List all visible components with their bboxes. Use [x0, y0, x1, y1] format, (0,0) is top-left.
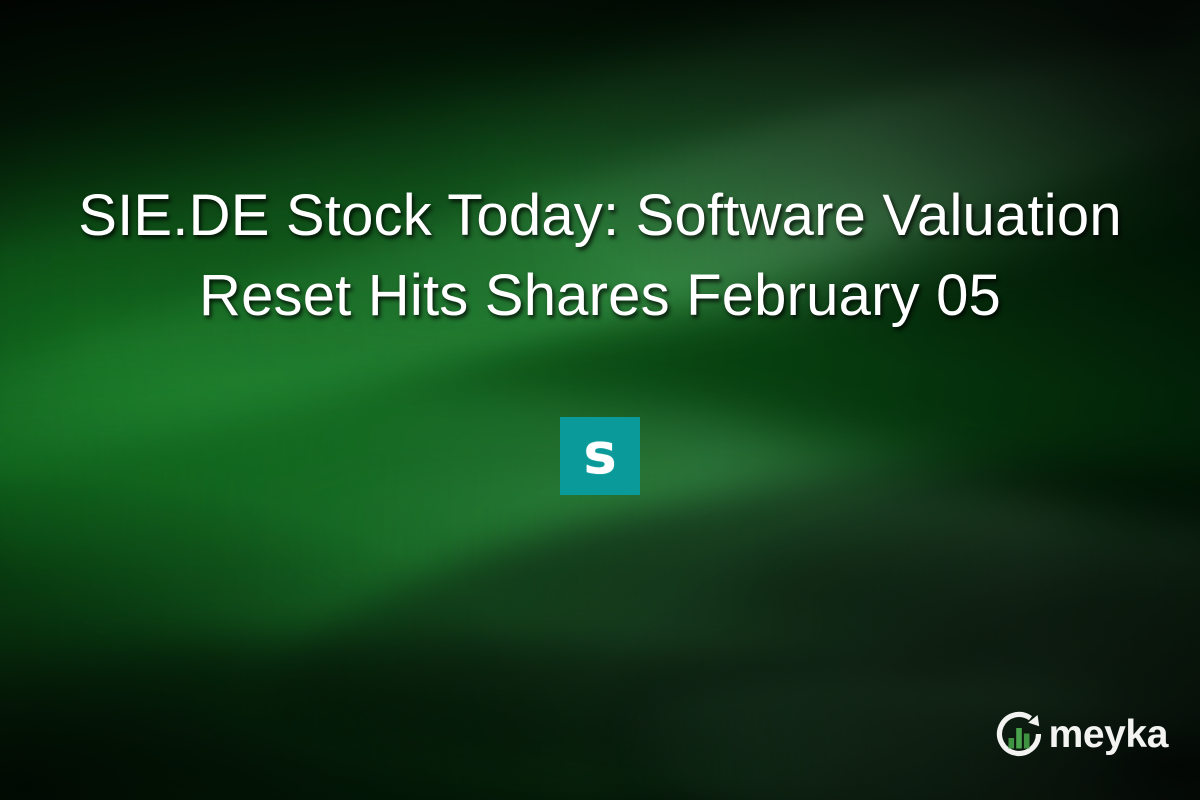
- social-share-card: SIE.DE Stock Today: Software Valuation R…: [0, 0, 1200, 800]
- brand-name: meyka: [1049, 715, 1168, 754]
- meyka-bar-chart-ring-logo-icon: [993, 708, 1045, 760]
- headline-title: SIE.DE Stock Today: Software Valuation R…: [50, 176, 1150, 336]
- brand-watermark: meyka: [993, 708, 1168, 760]
- source-badge-letter: s: [583, 427, 616, 483]
- source-badge: s: [560, 417, 640, 495]
- card-content: SIE.DE Stock Today: Software Valuation R…: [0, 0, 1200, 800]
